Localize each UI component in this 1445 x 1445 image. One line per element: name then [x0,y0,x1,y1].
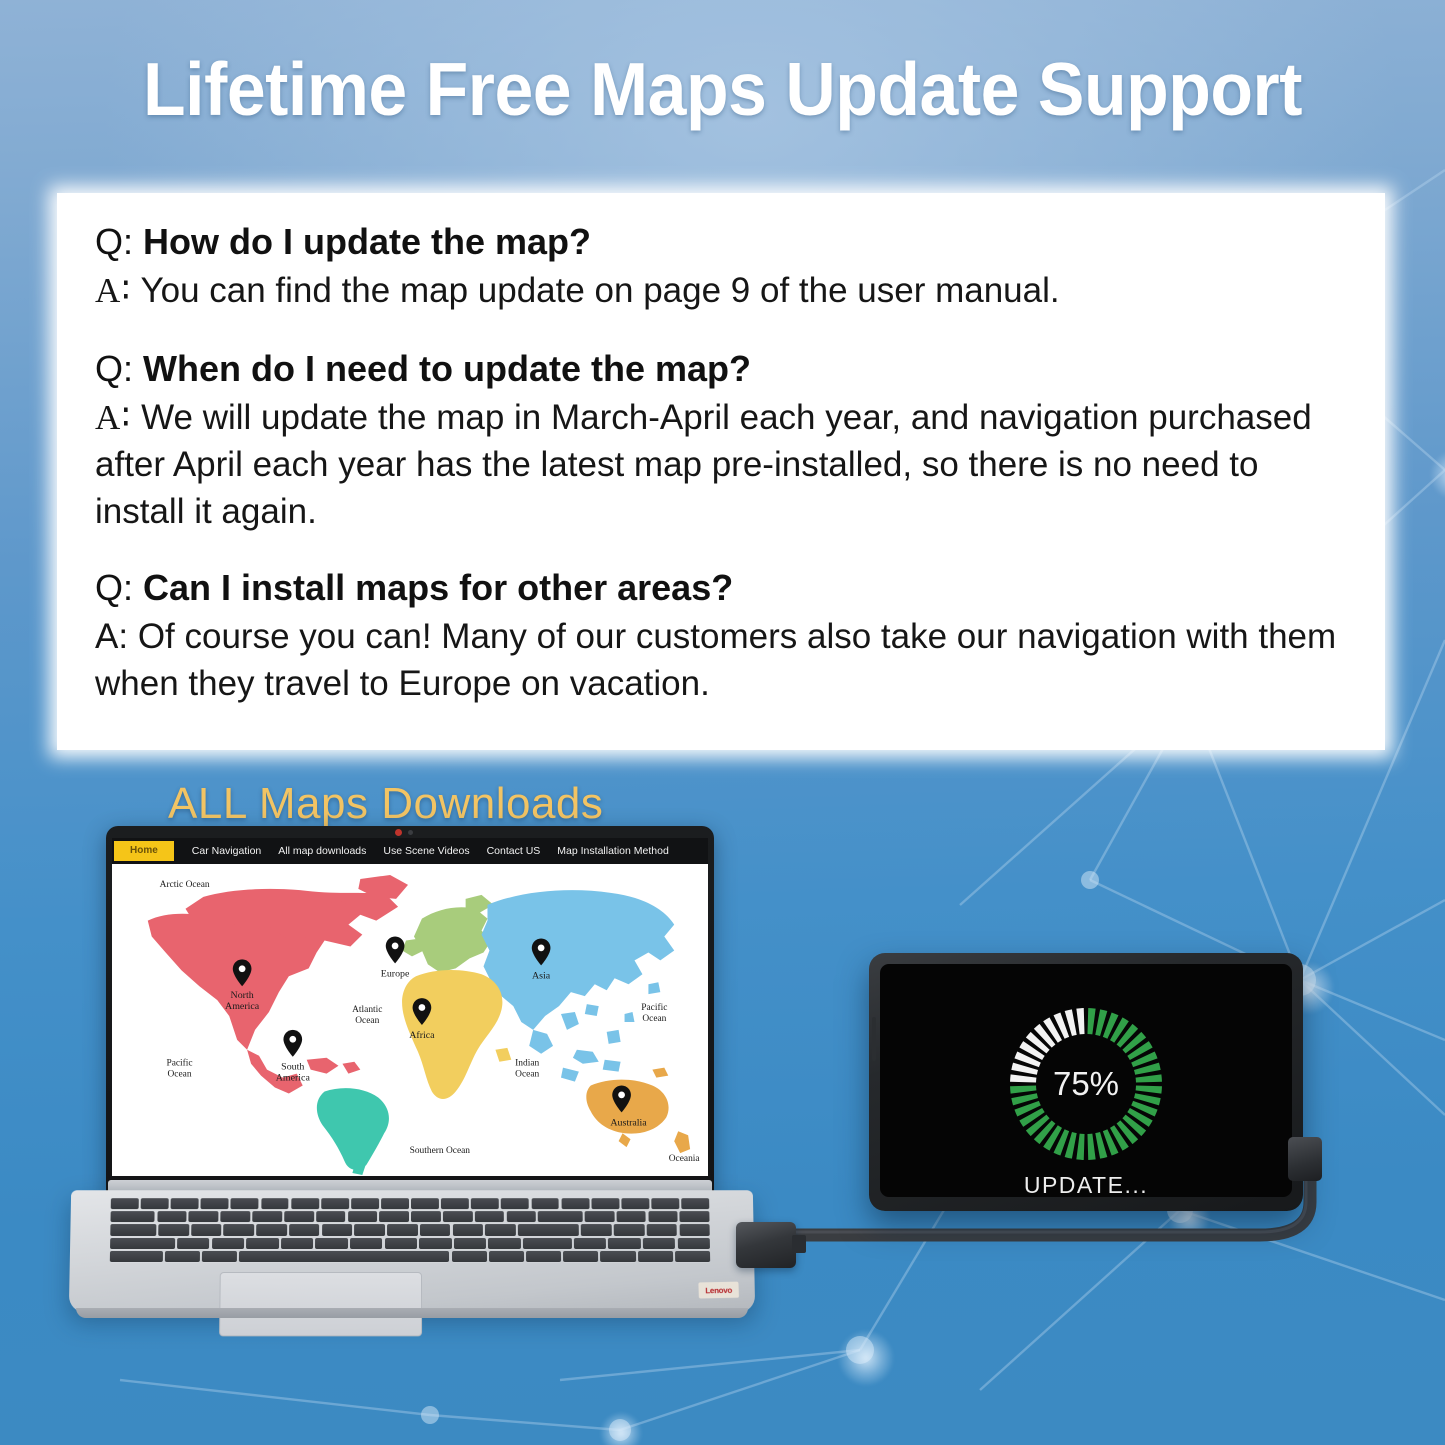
faq-answer-line: A∶ You can find the map update on page 9… [95,267,1355,314]
map-label-europe: Europe [381,968,410,979]
answer-text: You can find the map update on page 9 of… [140,271,1059,310]
laptop-lid: Home Car Navigation All map downloads Us… [106,826,714,1198]
faq-item: Q: Can I install maps for other areas? A… [95,563,1355,707]
faq-panel: Q: How do I update the map? A∶ You can f… [57,193,1385,750]
nav-item-use-scene-videos[interactable]: Use Scene Videos [383,845,469,857]
faq-answer-line: A∶ We will update the map in March-April… [95,394,1355,535]
map-label-australia: Australia [610,1117,647,1128]
lenovo-logo: Lenovo [698,1282,739,1299]
camera-icon [408,830,413,835]
map-label-pacific-ocean-right-2: Ocean [642,1014,666,1024]
answer-prefix: A∶ [95,271,131,310]
car-display-unit: 75% UPDATE... [869,953,1303,1211]
faq-question-line: Q: When do I need to update the map? [95,344,1355,394]
faq-item: Q: How do I update the map? A∶ You can f… [95,217,1355,314]
faq-question-line: Q: Can I install maps for other areas? [95,563,1355,613]
camera-indicator-icon [395,829,402,836]
map-label-arctic-ocean: Arctic Ocean [160,880,210,890]
laptop-base-edge [76,1308,748,1318]
question-prefix: Q: [95,221,133,262]
faq-answer-line: A: Of course you can! Many of our custom… [95,613,1355,707]
promo-banner: Lifetime Free Maps Update Support Q: How… [0,0,1445,1445]
laptop-trackpad[interactable] [219,1272,422,1336]
question-text: How do I update the map? [143,221,591,262]
progress-percent-label: 75% [1006,1064,1166,1104]
map-label-atlantic-ocean-2: Ocean [355,1016,379,1026]
faq-item: Q: When do I need to update the map? A∶ … [95,344,1355,535]
map-label-indian-ocean-2: Ocean [515,1070,539,1080]
nav-item-map-installation-method[interactable]: Map Installation Method [557,845,668,857]
map-label-north-america-2: America [225,1001,260,1012]
unit-side-button[interactable] [872,1017,876,1061]
nav-item-contact-us[interactable]: Contact US [487,845,541,857]
question-text: When do I need to update the map? [143,348,751,389]
laptop-device: Home Car Navigation All map downloads Us… [62,826,762,1346]
map-label-oceania: Oceania [669,1154,701,1164]
question-prefix: Q: [95,567,133,608]
map-label-asia: Asia [532,970,551,981]
laptop-base: Lenovo [62,1180,762,1330]
map-label-pacific-ocean-right: Pacific [641,1002,667,1013]
nav-item-car-navigation[interactable]: Car Navigation [192,845,261,857]
nav-item-all-map-downloads[interactable]: All map downloads [278,845,366,857]
question-text: Can I install maps for other areas? [143,567,733,608]
laptop-keyboard[interactable] [110,1198,710,1262]
laptop-screen: Home Car Navigation All map downloads Us… [112,838,708,1176]
map-label-africa: Africa [409,1030,435,1041]
map-label-north-america: North [231,990,254,1001]
map-label-indian-ocean: Indian [515,1059,539,1069]
map-label-pacific-ocean-left-2: Ocean [168,1070,192,1080]
page-title: Lifetime Free Maps Update Support [51,47,1395,131]
map-label-south-america-2: America [276,1073,311,1084]
map-label-south-america: South [281,1062,304,1073]
answer-text: Of course you can! Many of our customers… [95,617,1336,703]
maps-downloads-caption: ALL Maps Downloads [168,779,603,829]
usb-connector-laptop [736,1222,796,1268]
progress-ring: 75% [1006,1004,1166,1164]
answer-text: We will update the map in March-April ea… [95,398,1312,531]
world-map: North America South America Europe Afric… [112,864,708,1176]
unit-screen: 75% UPDATE... [880,964,1292,1197]
site-navbar: Home Car Navigation All map downloads Us… [112,838,708,864]
update-status-text: UPDATE... [880,1172,1292,1197]
unit-body: 75% UPDATE... [869,953,1303,1211]
answer-prefix: A: [95,617,128,656]
usb-connector-device [1288,1137,1322,1181]
map-label-pacific-ocean-left: Pacific [166,1058,192,1069]
faq-question-line: Q: How do I update the map? [95,217,1355,267]
answer-prefix: A∶ [95,398,131,437]
map-label-southern-ocean: Southern Ocean [410,1146,471,1156]
laptop-palmrest: Lenovo [69,1190,755,1312]
question-prefix: Q: [95,348,133,389]
map-label-atlantic-ocean: Atlantic [352,1005,382,1015]
nav-item-home[interactable]: Home [114,841,174,861]
